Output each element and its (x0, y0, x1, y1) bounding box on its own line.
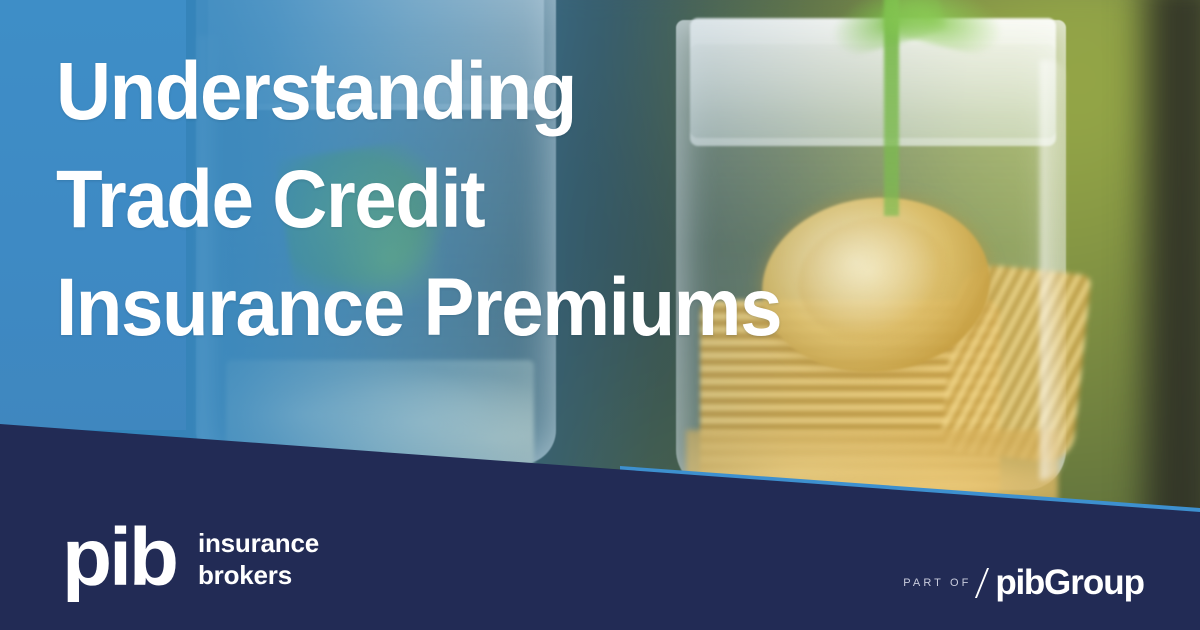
pib-group-pib: pib (995, 563, 1044, 602)
logo-word-brokers: brokers (198, 560, 292, 590)
logo-word-insurance: insurance (198, 528, 319, 558)
pib-group-group: Group (1044, 563, 1144, 602)
pib-logo-mark: pib (62, 524, 176, 591)
pib-insurance-brokers-logo[interactable]: pib insurancebrokers (62, 524, 319, 591)
pib-logo-wordmark: insurancebrokers (198, 524, 319, 591)
pib-group-wordmark: pibGroup (995, 565, 1144, 600)
page-title: Understanding Trade Credit Insurance Pre… (56, 38, 967, 362)
part-of-label: PART OF (903, 577, 971, 589)
diagonal-slash-icon (975, 568, 989, 598)
part-of-pib-group-lockup[interactable]: PART OF pibGroup (903, 565, 1144, 600)
social-share-banner: Understanding Trade Credit Insurance Pre… (0, 0, 1200, 630)
